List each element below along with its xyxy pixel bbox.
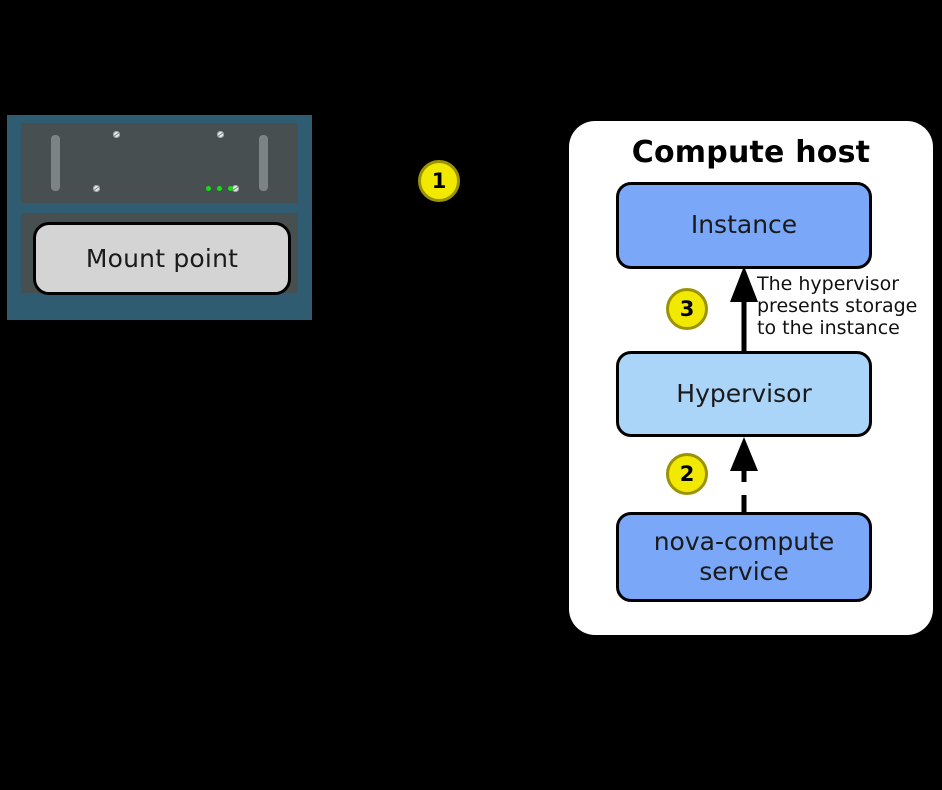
annotation-line-3: to the instance — [757, 317, 932, 339]
diagram-canvas: Mount point 1 Compute host Instance The … — [0, 0, 942, 790]
storage-bay-top — [21, 123, 298, 203]
screw-icon — [232, 185, 239, 192]
bay-handle-right-icon — [259, 135, 268, 191]
step-badge-1: 1 — [418, 160, 460, 202]
mount-point-node: Mount point — [33, 222, 291, 295]
step-badge-3: 3 — [666, 288, 708, 330]
bay-handle-left-icon — [51, 135, 60, 191]
screw-icon — [113, 131, 120, 138]
status-led-icon — [206, 186, 211, 191]
node-nova-compute-service: nova-computeservice — [616, 512, 872, 602]
node-instance: Instance — [616, 182, 872, 269]
status-led-group — [206, 186, 233, 191]
node-hypervisor: Hypervisor — [616, 351, 872, 437]
compute-host-panel: Compute host Instance The hypervisor pre… — [569, 121, 933, 635]
screw-icon — [93, 185, 100, 192]
hypervisor-annotation: The hypervisor presents storage to the i… — [757, 273, 932, 339]
compute-host-title: Compute host — [569, 135, 933, 170]
step-badge-2: 2 — [666, 453, 708, 495]
annotation-line-1: The hypervisor — [757, 273, 932, 295]
status-led-icon — [217, 186, 222, 191]
screw-icon — [217, 131, 224, 138]
annotation-line-2: presents storage — [757, 295, 932, 317]
status-led-icon — [228, 186, 233, 191]
